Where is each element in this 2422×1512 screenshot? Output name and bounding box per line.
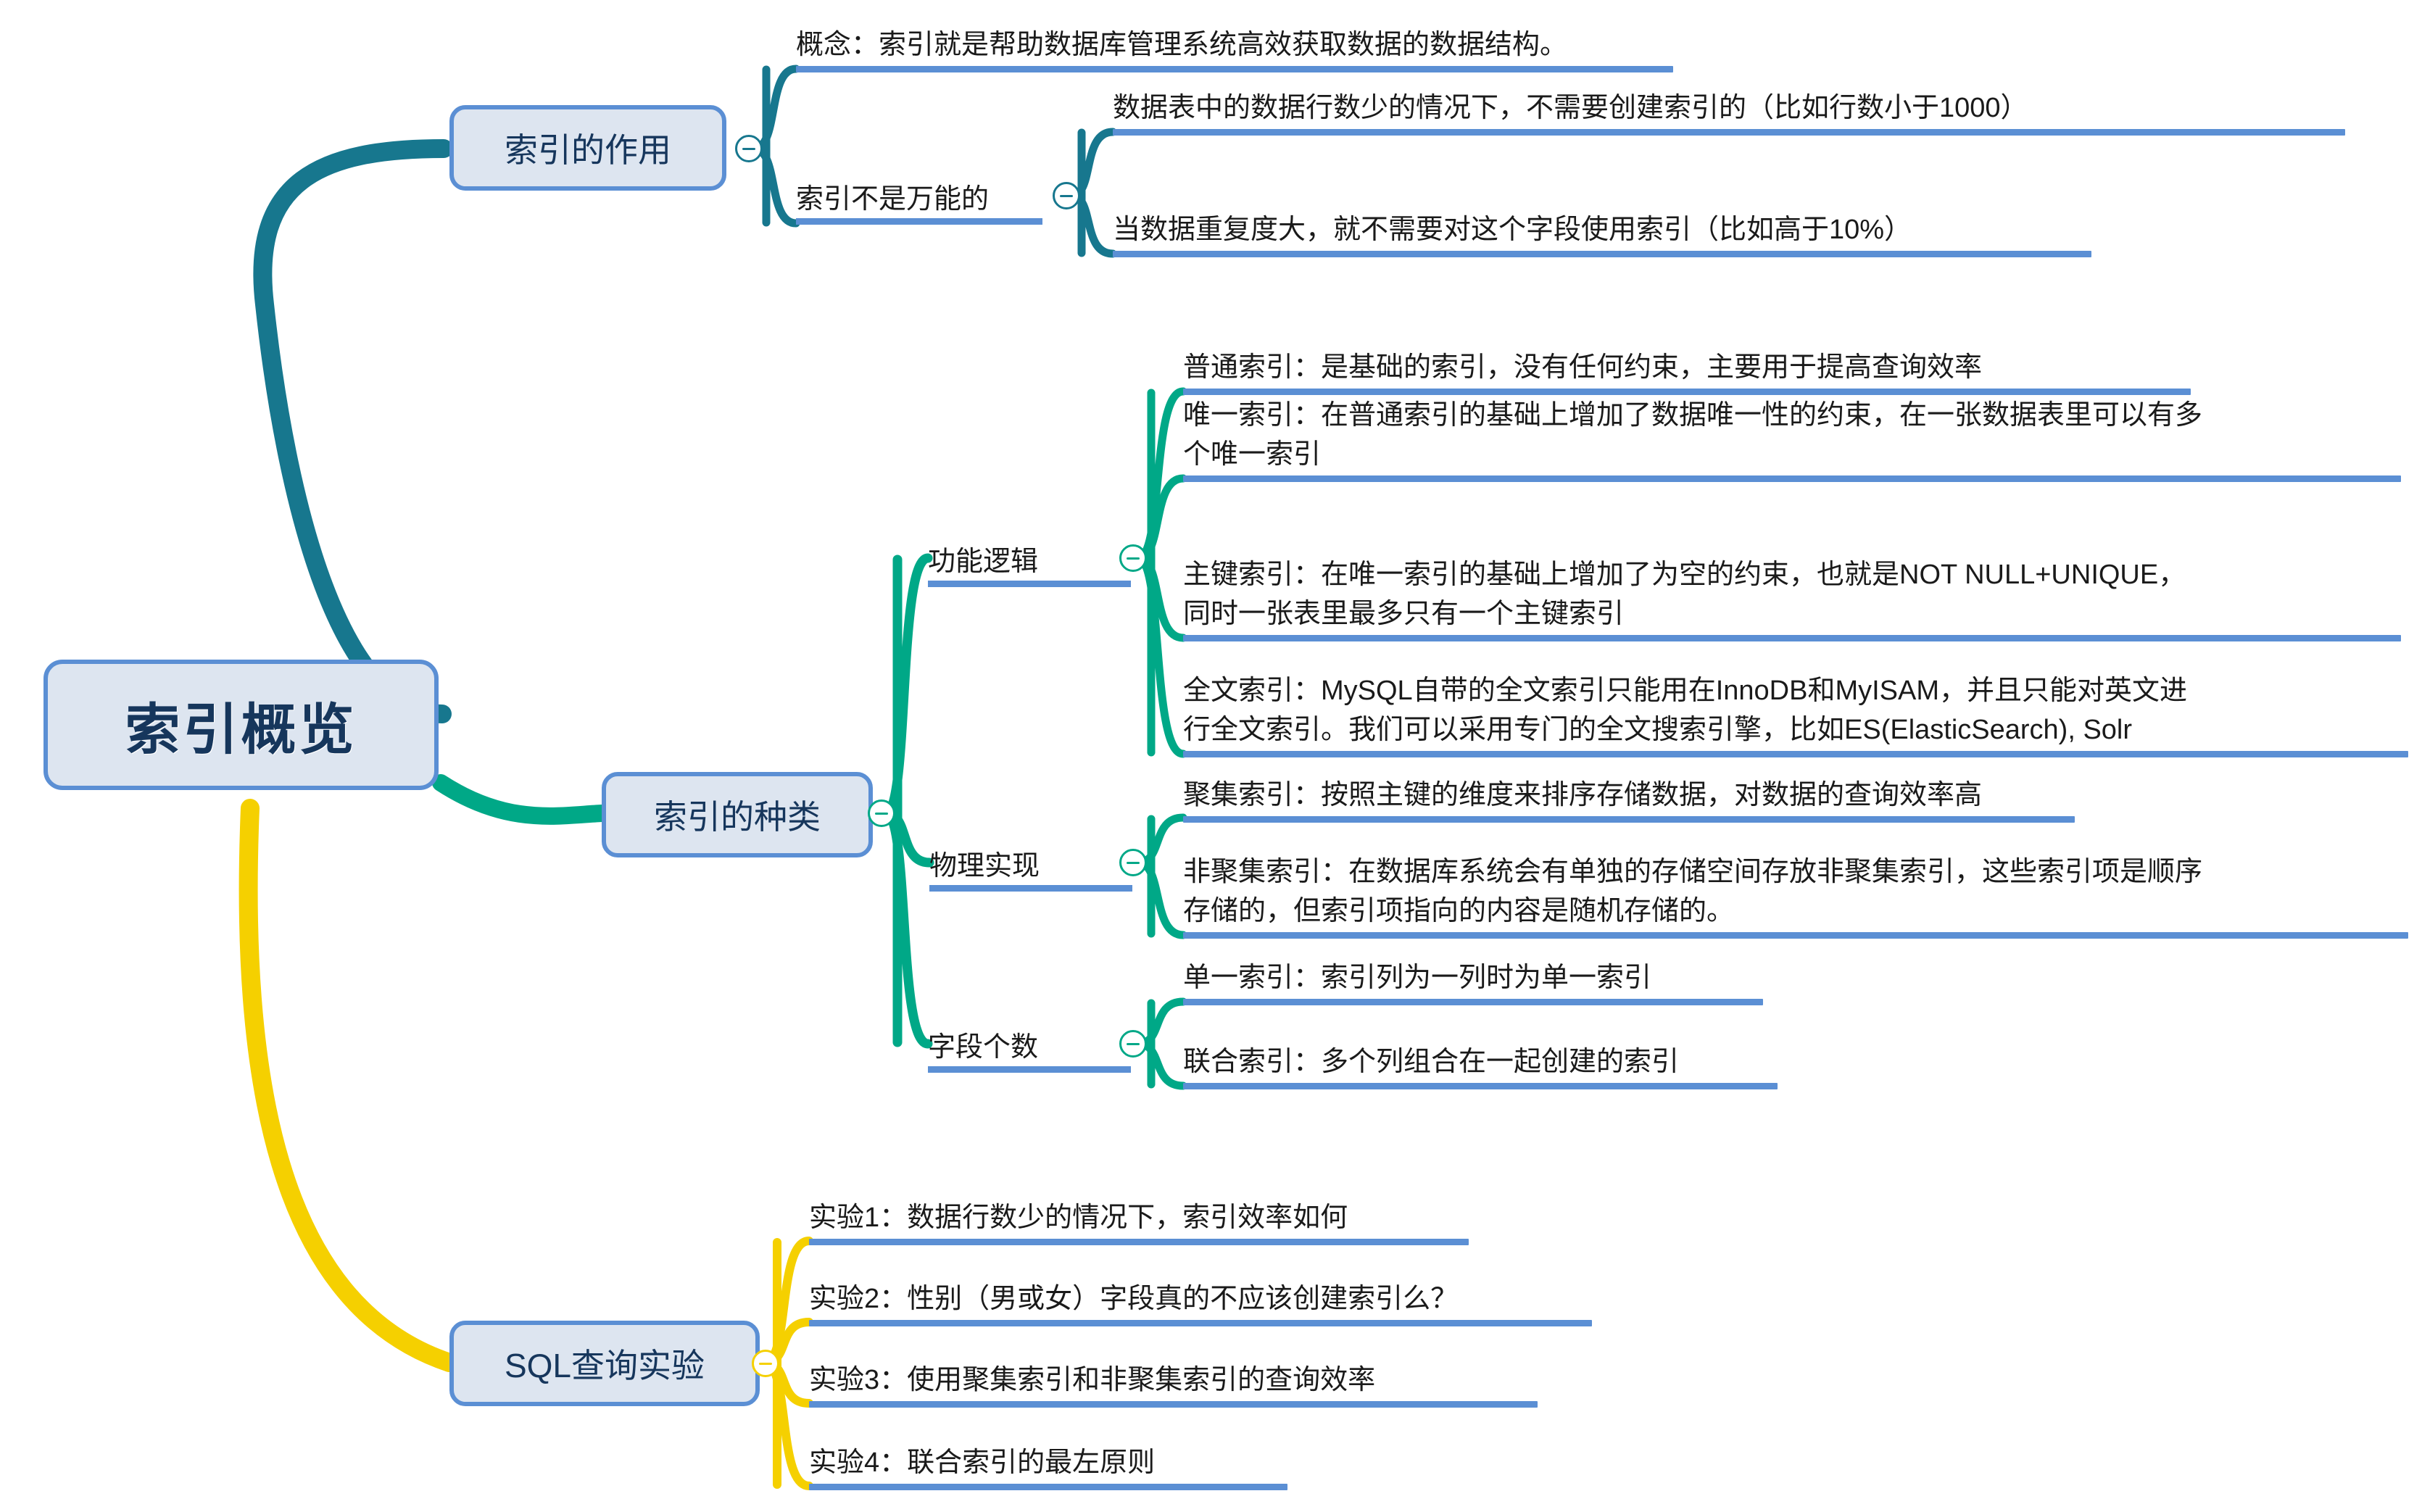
branch-node-sql-experiments[interactable]: SQL查询实验 (449, 1321, 760, 1406)
leaf-primary-key-index-text: 主键索引：在唯一索引的基础上增加了为空的约束，也就是NOT NULL+UNIQU… (1183, 556, 2186, 634)
leaf-exp1-rule (809, 1239, 1469, 1245)
leaf-unique-index-text: 唯一索引：在普通索引的基础上增加了数据唯一性的约束，在一张数据表里可以有多 个唯… (1183, 396, 2202, 475)
root-node[interactable]: 索引概览 (43, 660, 439, 790)
leaf-concept-text: 概念：索引就是帮助数据库管理系统高效获取数据的数据结构。 (796, 26, 1567, 65)
leaf-exp4[interactable]: 实验4：联合索引的最左原则 (809, 1432, 1287, 1490)
midlabel-field-count-text: 字段个数 (928, 1024, 1038, 1064)
leaf-high-duplication[interactable]: 当数据重复度大，就不需要对这个字段使用索引（比如高于10%） (1113, 199, 2091, 257)
toggle-role[interactable] (735, 135, 763, 162)
midlabel-not-omnipotent[interactable]: 索引不是万能的 (796, 167, 1042, 225)
branch-node-role[interactable]: 索引的作用 (449, 105, 726, 191)
leaf-primary-key-index-rule (1183, 635, 2401, 641)
leaf-exp2-rule (809, 1320, 1592, 1326)
leaf-fulltext-index-text: 全文索引：MySQL自带的全文索引只能用在InnoDB和MyISAM，并且只能对… (1183, 672, 2187, 750)
midlabel-physical-implementation[interactable]: 物理实现 (929, 834, 1132, 892)
leaf-exp3-text: 实验3：使用聚集索引和非聚集索引的查询效率 (809, 1361, 1375, 1400)
toggle-functional-logic[interactable] (1119, 544, 1147, 572)
midlabel-functional-logic[interactable]: 功能逻辑 (928, 529, 1131, 587)
leaf-unique-index-rule (1183, 475, 2401, 482)
leaf-fulltext-index-rule (1183, 751, 2408, 757)
leaf-single-index-text: 单一索引：索引列为一列时为单一索引 (1183, 959, 1651, 998)
leaf-few-rows-rule (1113, 129, 2345, 136)
leaf-exp2[interactable]: 实验2：性别（男或女）字段真的不应该创建索引么？ (809, 1268, 1592, 1326)
midlabel-field-count[interactable]: 字段个数 (928, 1015, 1131, 1073)
leaf-unique-index[interactable]: 唯一索引：在普通索引的基础上增加了数据唯一性的约束，在一张数据表里可以有多 个唯… (1183, 384, 2401, 482)
leaf-high-duplication-text: 当数据重复度大，就不需要对这个字段使用索引（比如高于10%） (1113, 211, 1912, 250)
leaf-exp3[interactable]: 实验3：使用聚集索引和非聚集索引的查询效率 (809, 1350, 1538, 1408)
midlabel-field-count-rule (928, 1066, 1131, 1073)
branch-node-types[interactable]: 索引的种类 (602, 772, 873, 857)
leaf-nonclustered-index[interactable]: 非聚集索引：在数据库系统会有单独的存储空间存放非聚集索引，这些索引项是顺序 存储… (1183, 841, 2408, 939)
leaf-exp1[interactable]: 实验1：数据行数少的情况下，索引效率如何 (809, 1187, 1469, 1245)
leaf-composite-index-text: 联合索引：多个列组合在一起创建的索引 (1183, 1043, 1679, 1082)
leaf-normal-index-text: 普通索引：是基础的索引，没有任何约束，主要用于提高查询效率 (1183, 349, 1982, 388)
leaf-clustered-index-text: 聚集索引：按照主键的维度来排序存储数据，对数据的查询效率高 (1183, 776, 1982, 815)
branch-node-sql-experiments-label: SQL查询实验 (505, 1339, 705, 1387)
leaf-clustered-index[interactable]: 聚集索引：按照主键的维度来排序存储数据，对数据的查询效率高 (1183, 765, 2075, 823)
root-node-label: 索引概览 (125, 685, 357, 765)
mindmap-canvas: 索引概览 索引的作用 概念：索引就是帮助数据库管理系统高效获取数据的数据结构。 … (0, 0, 2422, 1512)
leaf-composite-index-rule (1183, 1083, 1778, 1089)
midlabel-physical-implementation-text: 物理实现 (929, 843, 1040, 883)
leaf-single-index-rule (1183, 999, 1763, 1005)
leaf-clustered-index-rule (1183, 816, 2075, 823)
toggle-field-count[interactable] (1119, 1030, 1147, 1058)
midlabel-not-omnipotent-rule (796, 218, 1042, 225)
leaf-primary-key-index[interactable]: 主键索引：在唯一索引的基础上增加了为空的约束，也就是NOT NULL+UNIQU… (1183, 544, 2401, 641)
leaf-exp4-rule (809, 1484, 1287, 1490)
leaf-few-rows[interactable]: 数据表中的数据行数少的情况下，不需要创建索引的（比如行数小于1000） (1113, 78, 2345, 136)
leaf-concept[interactable]: 概念：索引就是帮助数据库管理系统高效获取数据的数据结构。 (796, 14, 1673, 72)
leaf-exp4-text: 实验4：联合索引的最左原则 (809, 1444, 1155, 1483)
leaf-fulltext-index[interactable]: 全文索引：MySQL自带的全文索引只能用在InnoDB和MyISAM，并且只能对… (1183, 660, 2408, 757)
leaf-composite-index[interactable]: 联合索引：多个列组合在一起创建的索引 (1183, 1031, 1778, 1089)
leaf-exp3-rule (809, 1401, 1538, 1408)
toggle-types[interactable] (868, 799, 895, 827)
leaf-single-index[interactable]: 单一索引：索引列为一列时为单一索引 (1183, 947, 1763, 1005)
leaf-exp2-text: 实验2：性别（男或女）字段真的不应该创建索引么？ (809, 1280, 1458, 1319)
leaf-few-rows-text: 数据表中的数据行数少的情况下，不需要创建索引的（比如行数小于1000） (1113, 89, 2028, 128)
midlabel-functional-logic-rule (928, 581, 1131, 587)
toggle-not-omnipotent[interactable] (1053, 182, 1080, 209)
branch-node-role-label: 索引的作用 (505, 124, 671, 172)
leaf-nonclustered-index-text: 非聚集索引：在数据库系统会有单独的存储空间存放非聚集索引，这些索引项是顺序 存储… (1183, 853, 2202, 931)
toggle-sql-experiments[interactable] (752, 1350, 779, 1377)
toggle-physical-implementation[interactable] (1119, 849, 1147, 876)
midlabel-functional-logic-text: 功能逻辑 (928, 539, 1038, 578)
leaf-nonclustered-index-rule (1183, 932, 2408, 939)
leaf-high-duplication-rule (1113, 251, 2091, 257)
midlabel-physical-implementation-rule (929, 885, 1132, 892)
midlabel-not-omnipotent-text: 索引不是万能的 (796, 176, 989, 216)
leaf-exp1-text: 实验1：数据行数少的情况下，索引效率如何 (809, 1199, 1348, 1238)
leaf-concept-rule (796, 66, 1673, 72)
branch-node-types-label: 索引的种类 (654, 791, 821, 839)
